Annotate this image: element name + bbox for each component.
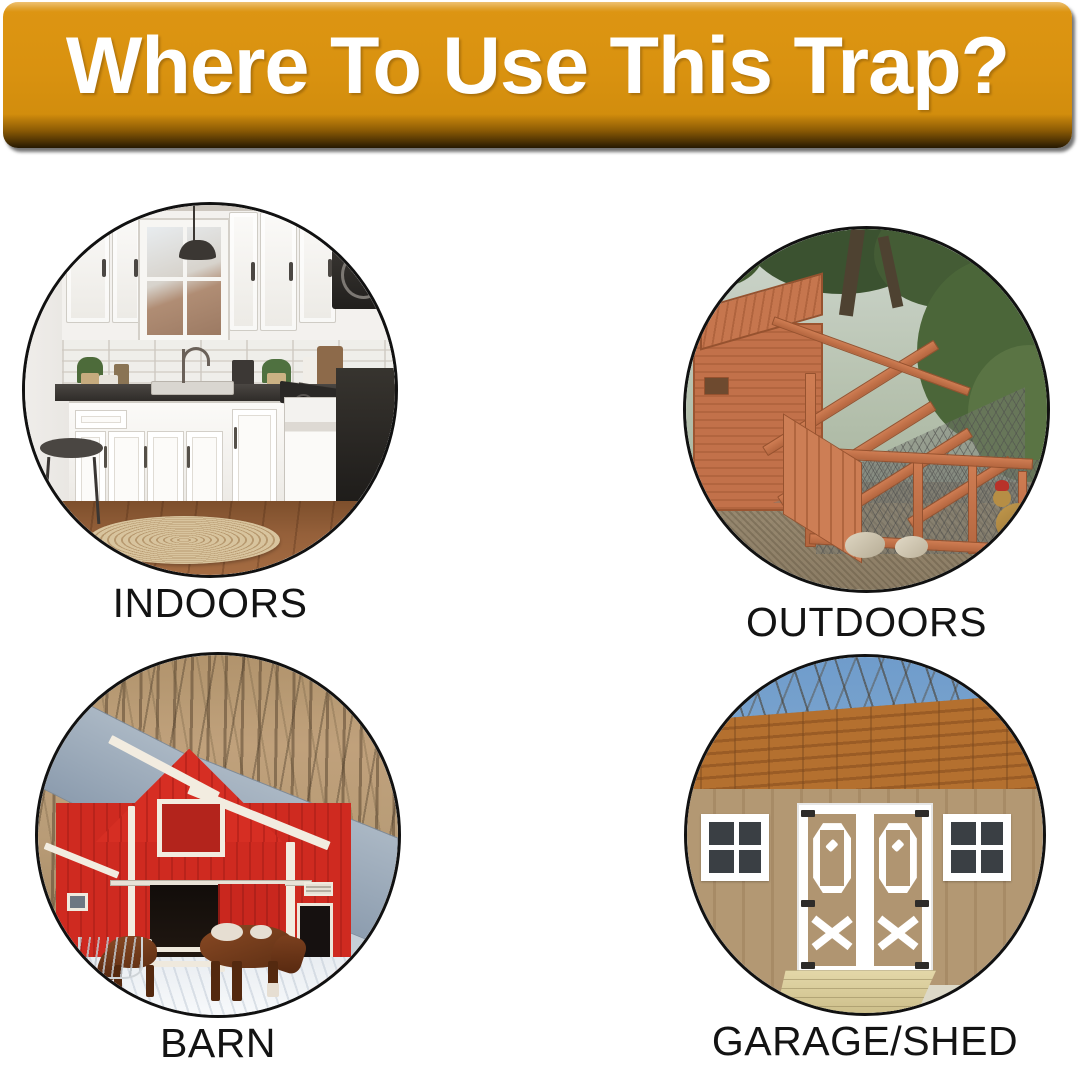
- indoors-photo: [22, 202, 398, 578]
- refrigerator: [336, 368, 395, 516]
- cabinet-handle: [144, 446, 147, 468]
- barn-photo: [35, 652, 401, 1018]
- window-mullion-horizontal: [147, 277, 222, 281]
- chicken-comb: [995, 480, 1009, 491]
- cabinet-handle: [104, 446, 107, 468]
- banner-gloss: [3, 2, 1072, 12]
- door-hinge: [801, 962, 815, 969]
- door-hinge: [915, 962, 929, 969]
- page-title: Where To Use This Trap?: [3, 16, 1072, 116]
- horse-sock: [267, 983, 279, 997]
- coop-window-frame: [704, 377, 729, 395]
- chicken-body: [895, 536, 927, 558]
- horse-leg: [232, 961, 241, 1001]
- garage-shed-scene: [687, 657, 1043, 1013]
- upper-cabinet: [299, 212, 336, 323]
- kitchen-window: [140, 220, 229, 342]
- shed-door-right[interactable]: [865, 805, 931, 975]
- wooden-ramp: [776, 970, 936, 1013]
- faucet-stem: [182, 349, 185, 382]
- shed-double-doors[interactable]: [797, 803, 932, 977]
- category-card-barn[interactable]: BARN: [35, 652, 401, 1066]
- kitchen-sink: [151, 381, 234, 395]
- hay-feeder: [78, 937, 143, 979]
- shed-window-left: [701, 814, 769, 882]
- door-hinge: [915, 900, 929, 907]
- door-x-brace: [812, 902, 852, 960]
- barn-window: [67, 893, 89, 911]
- category-card-outdoors[interactable]: OUTDOORS: [683, 226, 1050, 645]
- braided-rug: [88, 516, 280, 564]
- cabinet-drawer: [75, 410, 127, 429]
- door-diamond-accent: [891, 839, 904, 852]
- outdoors-scene: [686, 229, 1047, 590]
- window-mullion-horizontal: [709, 845, 761, 850]
- chicken-head: [993, 489, 1011, 507]
- pendant-light-cord: [193, 205, 195, 242]
- barn-vent: [304, 882, 333, 896]
- door-x-brace: [878, 902, 918, 960]
- window-mullion-horizontal: [951, 845, 1003, 850]
- category-label-indoors: INDOORS: [22, 580, 398, 626]
- horse-leg: [211, 961, 220, 1001]
- category-card-indoors[interactable]: INDOORS: [22, 202, 398, 626]
- barn-scene: [38, 655, 398, 1015]
- category-label-outdoors: OUTDOORS: [683, 599, 1050, 645]
- chicken-body: [845, 532, 885, 557]
- category-label-barn: BARN: [35, 1020, 401, 1066]
- cabinet-handle: [234, 427, 237, 449]
- door-hinge: [801, 810, 815, 817]
- header-banner: Where To Use This Trap?: [3, 2, 1072, 148]
- door-octagon-panel: [879, 823, 917, 893]
- pendant-light-shade: [179, 240, 216, 260]
- outdoors-photo: [683, 226, 1050, 593]
- cabinet-handle: [187, 446, 190, 468]
- run-post: [968, 464, 977, 554]
- garage-shed-photo: [684, 654, 1046, 1016]
- upper-cabinet: [66, 212, 110, 323]
- upper-cabinet: [260, 212, 297, 330]
- barn-loft-door: [157, 799, 225, 857]
- door-hinge: [801, 900, 815, 907]
- door-hinge: [915, 810, 929, 817]
- horse-leg: [146, 965, 154, 997]
- category-card-garage-shed[interactable]: GARAGE/SHED: [684, 654, 1046, 1064]
- upper-cabinet: [112, 212, 142, 323]
- upper-cabinet: [229, 212, 259, 330]
- door-diamond-accent: [826, 839, 839, 852]
- category-label-garage-shed: GARAGE/SHED: [684, 1018, 1046, 1064]
- indoors-scene: [25, 205, 395, 575]
- door-octagon-panel: [813, 823, 851, 893]
- shed-window-right: [943, 814, 1011, 882]
- shed-door-left[interactable]: [799, 805, 865, 975]
- coffee-maker: [232, 360, 254, 386]
- microwave-hood: [332, 238, 395, 308]
